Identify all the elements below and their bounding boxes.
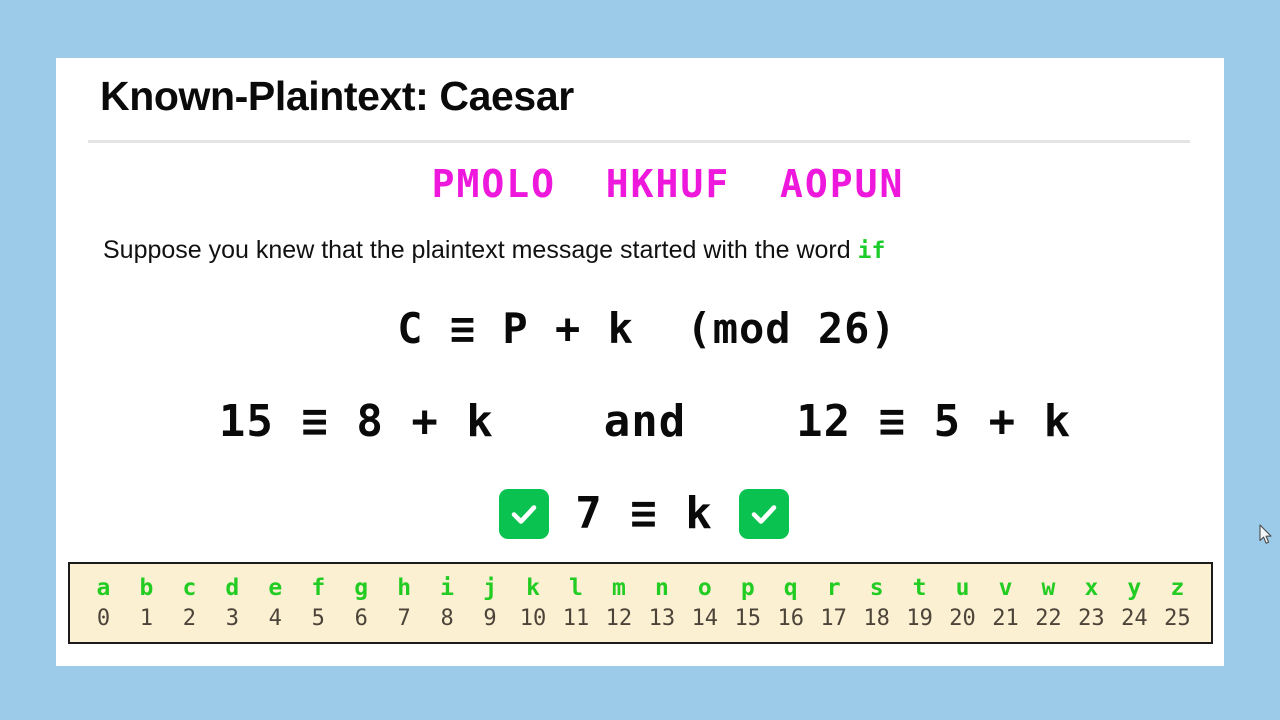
alphabet-index-1: 1 bbox=[125, 603, 168, 635]
alphabet-index-22: 22 bbox=[1027, 603, 1070, 635]
alphabet-letter-v: v bbox=[984, 573, 1027, 603]
alphabet-index-25: 25 bbox=[1156, 603, 1199, 635]
alphabet-letter-p: p bbox=[726, 573, 769, 603]
equation-result-row: 7 ≡ k bbox=[56, 488, 1224, 539]
alphabet-letter-l: l bbox=[554, 573, 597, 603]
alphabet-index-15: 15 bbox=[726, 603, 769, 635]
alphabet-letter-m: m bbox=[597, 573, 640, 603]
alphabet-letter-k: k bbox=[512, 573, 555, 603]
alphabet-letter-o: o bbox=[683, 573, 726, 603]
alphabet-letter-b: b bbox=[125, 573, 168, 603]
alphabet-index-11: 11 bbox=[554, 603, 597, 635]
alphabet-index-6: 6 bbox=[340, 603, 383, 635]
title-divider bbox=[88, 140, 1190, 143]
mouse-pointer-icon bbox=[1259, 524, 1273, 545]
alphabet-letter-t: t bbox=[898, 573, 941, 603]
alphabet-letter-w: w bbox=[1027, 573, 1070, 603]
alphabet-letter-f: f bbox=[297, 573, 340, 603]
alphabet-letter-q: q bbox=[769, 573, 812, 603]
alphabet-letter-d: d bbox=[211, 573, 254, 603]
table-row-numbers: 0123456789101112131415161718192021222324… bbox=[82, 603, 1199, 635]
alphabet-index-4: 4 bbox=[254, 603, 297, 635]
alphabet-letter-u: u bbox=[941, 573, 984, 603]
alphabet-index-23: 23 bbox=[1070, 603, 1113, 635]
alphabet-index-21: 21 bbox=[984, 603, 1027, 635]
ciphertext-text: PMOLO HKHUF AOPUN bbox=[56, 162, 1224, 206]
alphabet-index-16: 16 bbox=[769, 603, 812, 635]
alphabet-letter-h: h bbox=[383, 573, 426, 603]
alphabet-letter-a: a bbox=[82, 573, 125, 603]
alphabet-index-19: 19 bbox=[898, 603, 941, 635]
equation-result-text: 7 ≡ k bbox=[575, 488, 712, 539]
alphabet-letter-i: i bbox=[426, 573, 469, 603]
alphabet-index-8: 8 bbox=[426, 603, 469, 635]
equation-general: C ≡ P + k (mod 26) bbox=[56, 304, 1224, 353]
alphabet-index-13: 13 bbox=[640, 603, 683, 635]
alphabet-letter-e: e bbox=[254, 573, 297, 603]
alphabet-index-9: 9 bbox=[469, 603, 512, 635]
alphabet-letter-g: g bbox=[340, 573, 383, 603]
prose-line: Suppose you knew that the plaintext mess… bbox=[103, 236, 885, 265]
alphabet-index-12: 12 bbox=[597, 603, 640, 635]
prose-text: Suppose you knew that the plaintext mess… bbox=[103, 236, 858, 264]
alphabet-table-grid: abcdefghijklmnopqrstuvwxyz 0123456789101… bbox=[82, 573, 1199, 635]
alphabet-index-18: 18 bbox=[855, 603, 898, 635]
table-row-letters: abcdefghijklmnopqrstuvwxyz bbox=[82, 573, 1199, 603]
slide-card: Known-Plaintext: Caesar PMOLO HKHUF AOPU… bbox=[56, 58, 1224, 666]
alphabet-letter-s: s bbox=[855, 573, 898, 603]
alphabet-letter-j: j bbox=[469, 573, 512, 603]
alphabet-index-0: 0 bbox=[82, 603, 125, 635]
alphabet-letter-z: z bbox=[1156, 573, 1199, 603]
alphabet-index-3: 3 bbox=[211, 603, 254, 635]
check-mark-icon-right bbox=[739, 489, 789, 539]
alphabet-index-table: abcdefghijklmnopqrstuvwxyz 0123456789101… bbox=[68, 562, 1213, 644]
equation-values: 15 ≡ 8 + k and 12 ≡ 5 + k bbox=[56, 396, 1224, 447]
alphabet-letter-c: c bbox=[168, 573, 211, 603]
alphabet-letter-r: r bbox=[812, 573, 855, 603]
page-title: Known-Plaintext: Caesar bbox=[100, 73, 574, 120]
alphabet-index-24: 24 bbox=[1113, 603, 1156, 635]
alphabet-letter-x: x bbox=[1070, 573, 1113, 603]
alphabet-letter-n: n bbox=[640, 573, 683, 603]
plaintext-keyword: if bbox=[858, 238, 886, 264]
alphabet-index-10: 10 bbox=[512, 603, 555, 635]
alphabet-index-20: 20 bbox=[941, 603, 984, 635]
alphabet-letter-y: y bbox=[1113, 573, 1156, 603]
alphabet-index-5: 5 bbox=[297, 603, 340, 635]
check-mark-icon-left bbox=[499, 489, 549, 539]
alphabet-index-7: 7 bbox=[383, 603, 426, 635]
alphabet-index-2: 2 bbox=[168, 603, 211, 635]
alphabet-index-14: 14 bbox=[683, 603, 726, 635]
alphabet-index-17: 17 bbox=[812, 603, 855, 635]
